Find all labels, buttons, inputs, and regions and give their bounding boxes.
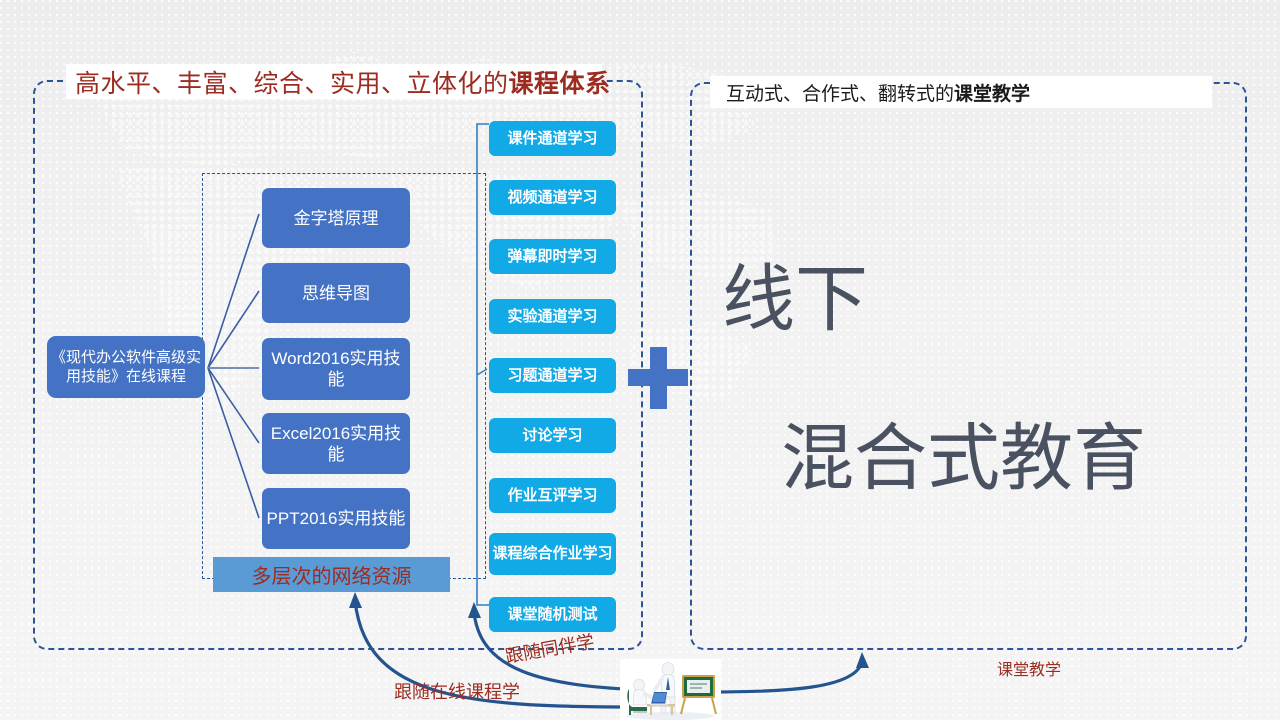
plus-icon xyxy=(628,347,688,409)
right-title-prefix: 互动式、合作式、翻转式的 xyxy=(726,79,954,106)
channel-box-label: 讨论学习 xyxy=(522,427,582,445)
course-box-mindmap[interactable]: 思维导图 xyxy=(262,263,410,323)
course-box-label: Word2016实用技能 xyxy=(266,348,406,390)
channel-box-label: 实验通道学习 xyxy=(507,308,597,326)
root-course-node[interactable]: 《现代办公软件高级实用技能》在线课程 xyxy=(47,336,205,398)
course-box-word2016[interactable]: Word2016实用技能 xyxy=(262,338,410,400)
channel-box-comprehensive-assignment[interactable]: 课程综合作业学习 xyxy=(489,533,616,575)
arrow-head-classroom xyxy=(856,652,869,668)
left-title-strong: 课程体系 xyxy=(509,64,611,100)
channel-box-label: 弹幕即时学习 xyxy=(507,248,597,266)
right-panel-title: 互动式、合作式、翻转式的课堂教学 xyxy=(710,76,1212,108)
panel-offline-class xyxy=(690,82,1247,650)
classroom-illustration xyxy=(620,659,721,720)
channel-box-experiment[interactable]: 实验通道学习 xyxy=(489,299,616,334)
channel-box-label: 作业互评学习 xyxy=(507,487,597,505)
channel-box-courseware[interactable]: 课件通道学习 xyxy=(489,121,616,156)
channel-box-label: 视频通道学习 xyxy=(507,189,597,207)
channel-box-barrage[interactable]: 弹幕即时学习 xyxy=(489,239,616,274)
channel-box-peer-review[interactable]: 作业互评学习 xyxy=(489,478,616,513)
channel-box-exercise[interactable]: 习题通道学习 xyxy=(489,358,616,393)
channel-box-label: 课堂随机测试 xyxy=(507,606,597,624)
network-resource-label: 多层次的网络资源 xyxy=(252,560,412,589)
channel-box-video[interactable]: 视频通道学习 xyxy=(489,180,616,215)
channel-box-random-test[interactable]: 课堂随机测试 xyxy=(489,597,616,632)
course-box-ppt2016[interactable]: PPT2016实用技能 xyxy=(262,488,410,549)
offline-heading-line2: 混合式教育 xyxy=(781,399,1146,505)
course-box-excel2016[interactable]: Excel2016实用技能 xyxy=(262,413,410,474)
plus-icon-horizontal-bar xyxy=(628,369,688,386)
channel-box-label: 课件通道学习 xyxy=(507,130,597,148)
course-box-label: 思维导图 xyxy=(302,283,370,304)
right-title-strong: 课堂教学 xyxy=(954,79,1030,106)
label-classroom-teaching: 课堂教学 xyxy=(997,656,1061,680)
arrow-classroom-teaching xyxy=(712,662,862,692)
course-box-pyramid[interactable]: 金字塔原理 xyxy=(262,188,410,248)
network-resource-bar[interactable]: 多层次的网络资源 xyxy=(213,557,450,592)
left-title-prefix: 高水平、丰富、综合、实用、立体化的 xyxy=(75,64,509,100)
root-course-label: 《现代办公软件高级实用技能》在线课程 xyxy=(47,348,205,386)
course-box-label: 金字塔原理 xyxy=(294,208,379,229)
course-box-label: Excel2016实用技能 xyxy=(266,423,406,465)
offline-heading-line1: 线下 xyxy=(722,240,868,346)
channel-box-label: 课程综合作业学习 xyxy=(492,545,612,563)
left-panel-title: 高水平、丰富、综合、实用、立体化的课程体系 xyxy=(66,64,602,99)
channel-box-discussion[interactable]: 讨论学习 xyxy=(489,418,616,453)
label-follow-online-course: 跟随在线课程学 xyxy=(394,678,520,704)
course-box-label: PPT2016实用技能 xyxy=(267,508,406,529)
channel-box-label: 习题通道学习 xyxy=(507,367,597,385)
